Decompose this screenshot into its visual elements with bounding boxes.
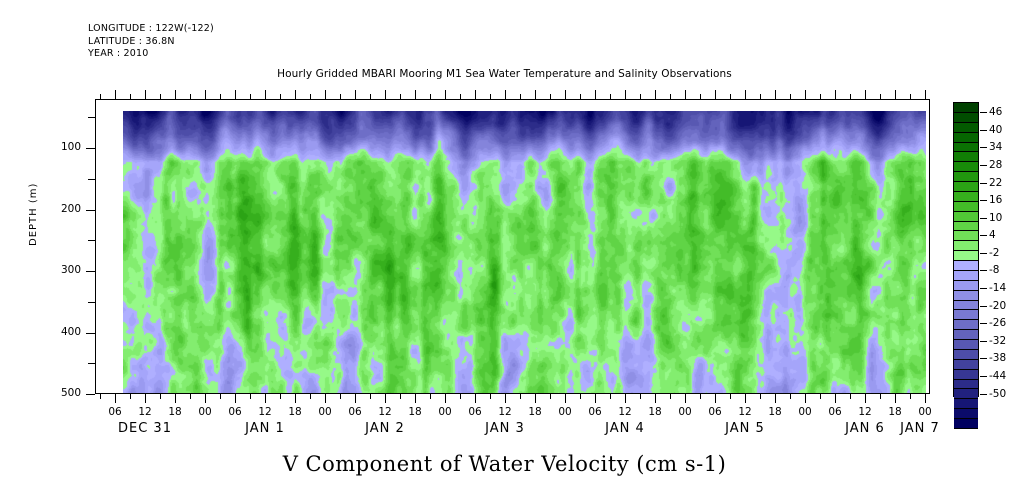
y-major-tick	[86, 333, 95, 334]
colorbar-tick-label: -26	[989, 317, 1006, 329]
x-tick-label: 00	[430, 406, 460, 418]
x-tick-top	[895, 90, 896, 99]
colorbar-tick-label: 28	[989, 159, 1002, 171]
colorbar-tick-label: -2	[989, 247, 999, 259]
x-minor-tick	[280, 394, 281, 399]
colorbar-tick-label: 46	[989, 106, 1002, 118]
colorbar-tick-label: -8	[989, 264, 999, 276]
colorbar-band	[954, 281, 978, 291]
colorbar-tick	[980, 112, 987, 113]
colorbar-tick	[980, 200, 987, 201]
x-major-tick	[715, 394, 716, 403]
x-tick-top	[205, 90, 206, 99]
x-minor-tick	[400, 394, 401, 399]
colorbar-band	[954, 399, 978, 409]
x-major-tick	[505, 394, 506, 403]
y-tick-label: 300	[41, 264, 81, 276]
colorbar	[953, 102, 979, 397]
x-tick-top	[610, 94, 611, 99]
colorbar-band	[954, 301, 978, 311]
y-minor-tick	[88, 179, 95, 180]
x-tick-label: 18	[640, 406, 670, 418]
x-minor-tick	[370, 394, 371, 399]
y-major-tick	[86, 148, 95, 149]
x-minor-tick	[430, 394, 431, 399]
x-tick-label: 00	[550, 406, 580, 418]
colorbar-band	[954, 419, 978, 429]
x-tick-top	[925, 90, 926, 99]
x-minor-tick	[670, 394, 671, 399]
colorbar-band	[954, 212, 978, 222]
plot-title: Hourly Gridded MBARI Mooring M1 Sea Wate…	[0, 68, 1009, 80]
x-minor-tick	[310, 394, 311, 399]
x-tick-top	[355, 90, 356, 99]
x-tick-top	[685, 90, 686, 99]
colorbar-tick-label: 4	[989, 229, 996, 241]
x-major-tick	[205, 394, 206, 403]
heatmap-field	[123, 111, 926, 393]
colorbar-band	[954, 389, 978, 399]
colorbar-band	[954, 330, 978, 340]
x-tick-top	[340, 94, 341, 99]
x-tick-top	[460, 94, 461, 99]
x-minor-tick	[640, 394, 641, 399]
colorbar-tick	[980, 218, 987, 219]
x-tick-label: 00	[310, 406, 340, 418]
colorbar-tick-label: -32	[989, 335, 1006, 347]
colorbar-tick	[980, 288, 987, 289]
colorbar-band	[954, 241, 978, 251]
x-tick-top	[175, 90, 176, 99]
x-tick-top	[310, 94, 311, 99]
x-tick-top	[910, 94, 911, 99]
x-minor-tick	[880, 394, 881, 399]
x-major-tick	[805, 394, 806, 403]
x-tick-label: 12	[250, 406, 280, 418]
x-major-tick	[925, 394, 926, 403]
x-tick-top	[865, 90, 866, 99]
colorbar-band	[954, 231, 978, 241]
x-tick-top	[655, 90, 656, 99]
colorbar-band	[954, 182, 978, 192]
colorbar-tick-label: 16	[989, 194, 1002, 206]
x-date-label: JAN 1	[205, 421, 325, 436]
x-date-label: JAN 4	[565, 421, 685, 436]
colorbar-tick	[980, 183, 987, 184]
y-minor-tick	[88, 117, 95, 118]
colorbar-band	[954, 350, 978, 360]
x-minor-tick	[610, 394, 611, 399]
x-tick-label: 00	[670, 406, 700, 418]
x-major-tick	[355, 394, 356, 403]
x-tick-top	[415, 90, 416, 99]
x-tick-top	[265, 90, 266, 99]
x-tick-label: 06	[220, 406, 250, 418]
x-tick-label: 06	[580, 406, 610, 418]
x-tick-top	[730, 94, 731, 99]
x-tick-label: 06	[340, 406, 370, 418]
colorbar-band	[954, 202, 978, 212]
colorbar-tick	[980, 270, 987, 271]
x-tick-label: 12	[610, 406, 640, 418]
latitude-text: LATITUDE : 36.8N	[88, 36, 214, 49]
x-tick-top	[145, 90, 146, 99]
x-major-tick	[895, 394, 896, 403]
y-minor-tick	[88, 302, 95, 303]
x-minor-tick	[220, 394, 221, 399]
y-minor-tick	[88, 363, 95, 364]
x-tick-top	[880, 94, 881, 99]
x-tick-top	[400, 94, 401, 99]
colorbar-tick	[980, 341, 987, 342]
x-tick-label: 18	[760, 406, 790, 418]
x-minor-tick	[910, 394, 911, 399]
x-minor-tick	[190, 394, 191, 399]
x-minor-tick	[460, 394, 461, 399]
x-minor-tick	[160, 394, 161, 399]
metadata-block: LONGITUDE : 122W(-122) LATITUDE : 36.8N …	[88, 23, 214, 61]
colorbar-tick	[980, 235, 987, 236]
x-tick-label: 06	[100, 406, 130, 418]
colorbar-tick-label: -20	[989, 300, 1006, 312]
x-tick-label: 12	[370, 406, 400, 418]
x-minor-tick	[550, 394, 551, 399]
x-major-tick	[265, 394, 266, 403]
x-minor-tick	[820, 394, 821, 399]
x-major-tick	[235, 394, 236, 403]
colorbar-band	[954, 261, 978, 271]
x-tick-top	[385, 90, 386, 99]
x-tick-top	[220, 94, 221, 99]
colorbar-band	[954, 143, 978, 153]
x-tick-top	[115, 90, 116, 99]
x-tick-top	[775, 90, 776, 99]
colorbar-band	[954, 320, 978, 330]
x-tick-label: 18	[880, 406, 910, 418]
x-minor-tick	[340, 394, 341, 399]
colorbar-band	[954, 310, 978, 320]
x-major-tick	[595, 394, 596, 403]
x-major-tick	[835, 394, 836, 403]
x-major-tick	[295, 394, 296, 403]
x-tick-label: 06	[820, 406, 850, 418]
x-tick-top	[520, 94, 521, 99]
x-tick-top	[505, 90, 506, 99]
x-tick-top	[745, 90, 746, 99]
colorbar-tick-label: 40	[989, 124, 1002, 136]
x-major-tick	[535, 394, 536, 403]
x-tick-top	[790, 94, 791, 99]
colorbar-tick	[980, 165, 987, 166]
x-tick-top	[805, 90, 806, 99]
x-major-tick	[655, 394, 656, 403]
x-minor-tick	[100, 394, 101, 399]
y-major-tick	[86, 271, 95, 272]
x-tick-top	[550, 94, 551, 99]
x-tick-label: 18	[400, 406, 430, 418]
x-tick-label: 00	[910, 406, 940, 418]
x-minor-tick	[850, 394, 851, 399]
colorbar-band	[954, 360, 978, 370]
x-major-tick	[385, 394, 386, 403]
colorbar-band	[954, 251, 978, 261]
y-tick-label: 400	[41, 326, 81, 338]
colorbar-tick-label: 22	[989, 177, 1002, 189]
x-minor-tick	[520, 394, 521, 399]
y-axis-label: DEPTH (m)	[28, 183, 39, 246]
colorbar-tick-label: 10	[989, 212, 1002, 224]
x-tick-label: 00	[790, 406, 820, 418]
x-tick-label: 18	[280, 406, 310, 418]
x-tick-label: 18	[520, 406, 550, 418]
x-date-label: JAN 3	[445, 421, 565, 436]
x-tick-top	[490, 94, 491, 99]
colorbar-tick-label: 34	[989, 141, 1002, 153]
x-minor-tick	[580, 394, 581, 399]
x-major-tick	[175, 394, 176, 403]
colorbar-tick-label: -44	[989, 370, 1006, 382]
y-tick-label: 200	[41, 203, 81, 215]
colorbar-band	[954, 291, 978, 301]
x-major-tick	[325, 394, 326, 403]
year-text: YEAR : 2010	[88, 48, 214, 61]
colorbar-tick-label: -38	[989, 352, 1006, 364]
x-tick-top	[250, 94, 251, 99]
colorbar-tick	[980, 253, 987, 254]
x-minor-tick	[250, 394, 251, 399]
colorbar-band	[954, 123, 978, 133]
x-tick-label: 12	[130, 406, 160, 418]
x-tick-top	[715, 90, 716, 99]
colorbar-band	[954, 370, 978, 380]
x-tick-top	[235, 90, 236, 99]
x-tick-top	[475, 90, 476, 99]
x-tick-top	[835, 90, 836, 99]
colorbar-band	[954, 133, 978, 143]
x-minor-tick	[790, 394, 791, 399]
colorbar-band	[954, 103, 978, 113]
x-minor-tick	[490, 394, 491, 399]
x-tick-label: 06	[700, 406, 730, 418]
colorbar-band	[954, 222, 978, 232]
colorbar-tick	[980, 358, 987, 359]
colorbar-band	[954, 162, 978, 172]
x-tick-top	[760, 94, 761, 99]
longitude-text: LONGITUDE : 122W(-122)	[88, 23, 214, 36]
x-tick-label: 12	[850, 406, 880, 418]
x-tick-top	[325, 90, 326, 99]
x-tick-top	[370, 94, 371, 99]
x-major-tick	[445, 394, 446, 403]
x-tick-top	[820, 94, 821, 99]
colorbar-band	[954, 172, 978, 182]
x-date-label: JAN 2	[325, 421, 445, 436]
colorbar-band	[954, 340, 978, 350]
colorbar-band	[954, 380, 978, 390]
x-minor-tick	[130, 394, 131, 399]
x-tick-label: 18	[160, 406, 190, 418]
x-tick-top	[430, 94, 431, 99]
x-minor-tick	[700, 394, 701, 399]
x-tick-label: 12	[730, 406, 760, 418]
colorbar-tick	[980, 130, 987, 131]
colorbar-tick-label: -14	[989, 282, 1006, 294]
x-tick-top	[100, 94, 101, 99]
figure-caption: V Component of Water Velocity (cm s-1)	[0, 452, 1009, 476]
y-major-tick	[86, 210, 95, 211]
y-major-tick	[86, 394, 95, 395]
colorbar-tick-label: -50	[989, 388, 1006, 400]
colorbar-tick	[980, 147, 987, 148]
x-tick-top	[850, 94, 851, 99]
colorbar-tick	[980, 394, 987, 395]
x-tick-label: 06	[460, 406, 490, 418]
colorbar-band	[954, 152, 978, 162]
colorbar-band	[954, 271, 978, 281]
colorbar-band	[954, 409, 978, 419]
x-tick-label: 12	[490, 406, 520, 418]
x-minor-tick	[730, 394, 731, 399]
colorbar-band	[954, 113, 978, 123]
x-major-tick	[145, 394, 146, 403]
colorbar-tick	[980, 306, 987, 307]
heatmap-canvas	[123, 111, 926, 393]
x-tick-top	[625, 90, 626, 99]
x-major-tick	[475, 394, 476, 403]
y-tick-label: 100	[41, 141, 81, 153]
y-minor-tick	[88, 240, 95, 241]
y-tick-label: 500	[41, 387, 81, 399]
x-major-tick	[775, 394, 776, 403]
x-date-label: JAN 5	[685, 421, 805, 436]
x-tick-top	[700, 94, 701, 99]
x-major-tick	[745, 394, 746, 403]
x-major-tick	[865, 394, 866, 403]
x-tick-top	[565, 90, 566, 99]
colorbar-band	[954, 192, 978, 202]
x-major-tick	[415, 394, 416, 403]
x-tick-top	[595, 90, 596, 99]
x-tick-top	[295, 90, 296, 99]
x-tick-top	[445, 90, 446, 99]
x-minor-tick	[760, 394, 761, 399]
x-tick-top	[670, 94, 671, 99]
x-tick-top	[130, 94, 131, 99]
x-major-tick	[115, 394, 116, 403]
x-tick-top	[160, 94, 161, 99]
x-tick-top	[535, 90, 536, 99]
x-tick-label: 00	[190, 406, 220, 418]
colorbar-tick	[980, 323, 987, 324]
x-major-tick	[625, 394, 626, 403]
x-major-tick	[565, 394, 566, 403]
colorbar-tick	[980, 376, 987, 377]
x-tick-top	[580, 94, 581, 99]
x-tick-top	[640, 94, 641, 99]
x-tick-top	[280, 94, 281, 99]
x-major-tick	[685, 394, 686, 403]
x-date-label: DEC 31	[85, 421, 205, 436]
x-tick-top	[190, 94, 191, 99]
